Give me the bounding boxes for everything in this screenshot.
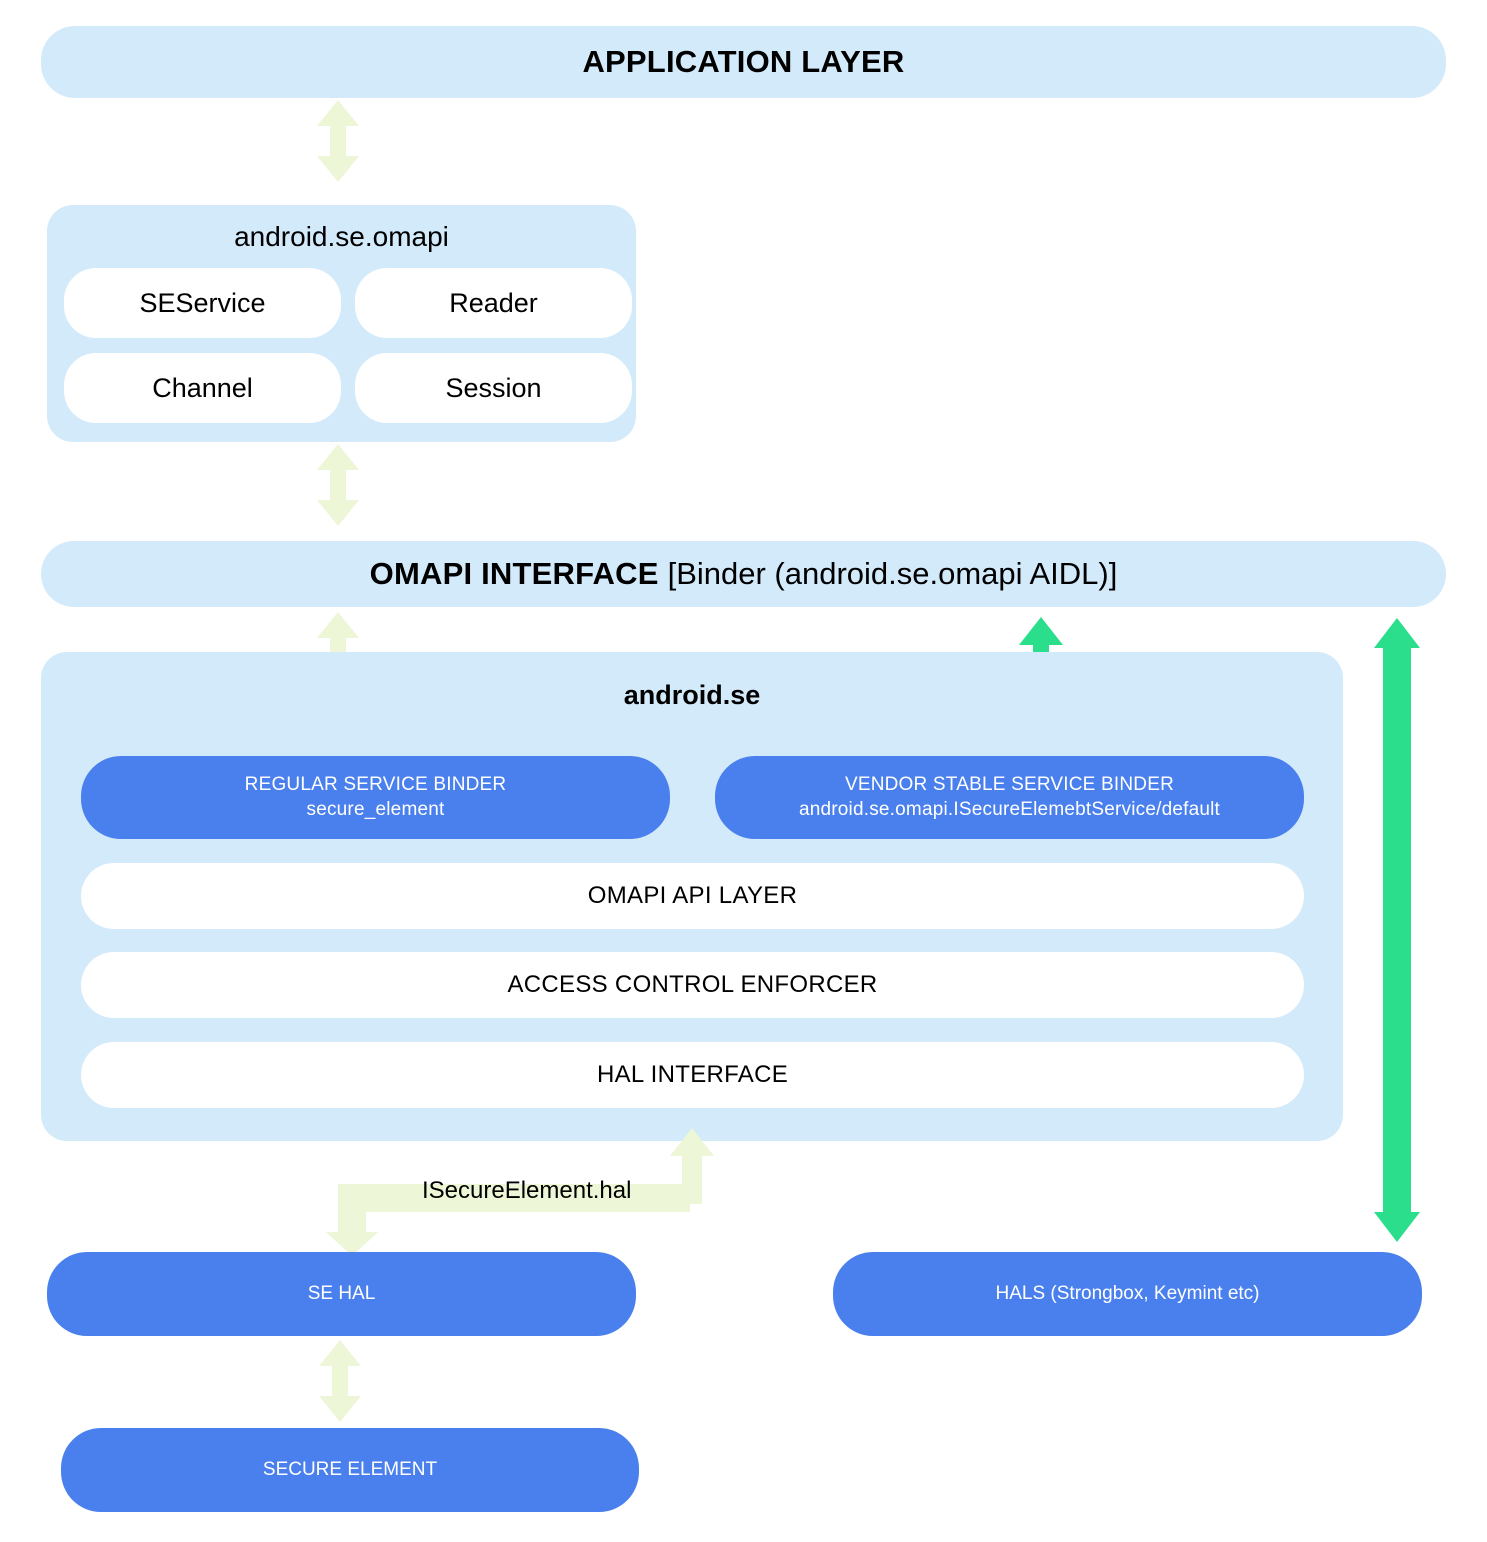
diagram-canvas: APPLICATION LAYER android.se.omapi SESer… [0,0,1487,1542]
omapi-class-seservice[interactable]: SEService [64,268,341,338]
arrow-interface-to-hals [1368,618,1426,1242]
hal-link-label: ISecureElement.hal [422,1177,631,1205]
hals-box[interactable]: HALS (Strongbox, Keymint etc) [833,1252,1422,1336]
se-hal-label: SE HAL [308,1282,376,1306]
android-se-label: android.se [41,680,1343,711]
application-layer-label: APPLICATION LAYER [582,44,904,80]
omapi-class-channel-label: Channel [152,373,253,404]
android-se-omapi-label: android.se.omapi [47,221,636,253]
vendor-stable-service-binder-box[interactable]: VENDOR STABLE SERVICE BINDER android.se.… [715,756,1304,839]
omapi-class-session-label: Session [445,373,541,404]
hals-label: HALS (Strongbox, Keymint etc) [996,1282,1260,1306]
omapi-interface-title: OMAPI INTERFACE [370,556,659,592]
omapi-interface-subtitle: [Binder (android.se.omapi AIDL)] [668,556,1118,592]
arrow-sehal-to-secure-element [315,1340,365,1422]
omapi-class-seservice-label: SEService [139,288,265,319]
omapi-api-layer-row[interactable]: OMAPI API LAYER [81,863,1304,929]
vendor-stable-service-binder-name: android.se.omapi.ISecureElemebtService/d… [799,798,1220,822]
vendor-stable-service-binder-title: VENDOR STABLE SERVICE BINDER [845,773,1174,797]
access-control-enforcer-label: ACCESS CONTROL ENFORCER [507,971,877,999]
omapi-api-layer-label: OMAPI API LAYER [588,882,797,910]
secure-element-box[interactable]: SECURE ELEMENT [61,1428,639,1512]
omapi-class-reader-label: Reader [449,288,538,319]
omapi-class-reader[interactable]: Reader [355,268,632,338]
hal-interface-row[interactable]: HAL INTERFACE [81,1042,1304,1108]
regular-service-binder-box[interactable]: REGULAR SERVICE BINDER secure_element [81,756,670,839]
arrow-halinterface-to-sehal: ISecureElement.hal [310,1128,730,1256]
se-hal-box[interactable]: SE HAL [47,1252,636,1336]
application-layer-box: APPLICATION LAYER [41,26,1446,98]
access-control-enforcer-row[interactable]: ACCESS CONTROL ENFORCER [81,952,1304,1018]
omapi-class-channel[interactable]: Channel [64,353,341,423]
hal-interface-label: HAL INTERFACE [597,1061,788,1089]
omapi-class-session[interactable]: Session [355,353,632,423]
arrow-app-to-omapi [313,100,363,182]
regular-service-binder-name: secure_element [307,798,445,822]
regular-service-binder-title: REGULAR SERVICE BINDER [245,773,507,797]
arrow-omapi-to-interface [313,444,363,526]
secure-element-label: SECURE ELEMENT [263,1458,437,1482]
omapi-interface-box: OMAPI INTERFACE [Binder (android.se.omap… [41,541,1446,607]
